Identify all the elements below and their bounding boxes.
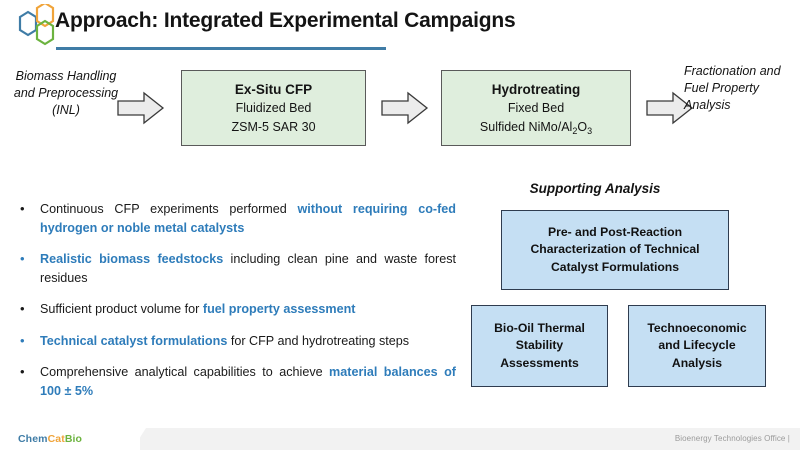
process-box-hydrotreating: Hydrotreating Fixed Bed Sulfided NiMo/Al… — [441, 70, 631, 146]
list-item: •Realistic biomass feedstocks including … — [8, 250, 456, 287]
footer-chemcatbio-logo: ChemCatBio — [18, 433, 82, 445]
catalyst-formula-mid: O — [577, 120, 587, 134]
bullet-text-plain-1: Sufficient product volume for — [40, 302, 203, 316]
footer-logo-bio: Bio — [65, 433, 82, 445]
footer-logo-cat: Cat — [48, 433, 65, 445]
list-item: •Technical catalyst formulations for CFP… — [8, 332, 456, 351]
list-item: •Sufficient product volume for fuel prop… — [8, 300, 456, 319]
supporting-box-technoeconomic: Technoeconomic and Lifecycle Analysis — [628, 305, 766, 387]
supporting-analysis-heading: Supporting Analysis — [470, 181, 720, 196]
bullet-text-accent-1: fuel property assessment — [203, 302, 356, 316]
flow-output-label: Fractionation and Fuel Property Analysis — [684, 63, 792, 114]
list-item: •Comprehensive analytical capabilities t… — [8, 363, 456, 400]
catalyst-formula-sub2: 3 — [587, 126, 592, 136]
approach-bullet-list: •Continuous CFP experiments performed wi… — [8, 200, 456, 413]
flow-arrow-1-icon — [116, 90, 166, 131]
catalyst-formula-pre: Sulfided NiMo/Al — [480, 120, 572, 134]
process-box-title: Hydrotreating — [442, 80, 630, 99]
supporting-box-bio-oil-stability: Bio-Oil Thermal Stability Assessments — [471, 305, 608, 387]
process-box-ex-situ-cfp: Ex-Situ CFP Fluidized Bed ZSM-5 SAR 30 — [181, 70, 366, 146]
bullet-text-accent-1: Technical catalyst formulations — [40, 334, 227, 348]
footer-office-text: Bioenergy Technologies Office | — [675, 434, 790, 443]
process-box-line-2: ZSM-5 SAR 30 — [182, 118, 365, 137]
process-box-line-2: Sulfided NiMo/Al2O3 — [442, 118, 630, 138]
process-box-title: Ex-Situ CFP — [182, 80, 365, 99]
flow-input-label: Biomass Handling and Preprocessing (INL) — [12, 68, 120, 119]
catalyst-formula-sub1: 2 — [572, 126, 577, 136]
bullet-marker-icon: • — [20, 332, 25, 351]
bullet-marker-icon: • — [20, 250, 25, 269]
flow-arrow-2-icon — [380, 90, 430, 131]
process-box-line-1: Fixed Bed — [442, 99, 630, 118]
bullet-marker-icon: • — [20, 363, 25, 382]
supporting-box-characterization: Pre- and Post-Reaction Characterization … — [501, 210, 729, 290]
bullet-text-plain-1: Continuous CFP experiments performed — [40, 202, 297, 216]
process-box-line-1: Fluidized Bed — [182, 99, 365, 118]
bullet-marker-icon: • — [20, 200, 25, 219]
list-item: •Continuous CFP experiments performed wi… — [8, 200, 456, 237]
page-title: Approach: Integrated Experimental Campai… — [55, 9, 516, 33]
bullet-text-plain-1: Comprehensive analytical capabilities to… — [40, 365, 329, 379]
footer-logo-chem: Chem — [18, 433, 48, 445]
bullet-text-plain-2: for CFP and hydrotreating steps — [227, 334, 409, 348]
slide-canvas: Approach: Integrated Experimental Campai… — [0, 0, 800, 450]
bullet-text-accent-1: Realistic biomass feedstocks — [40, 252, 223, 266]
title-underline-rule — [56, 47, 386, 50]
bullet-marker-icon: • — [20, 300, 25, 319]
footer-tab-edge — [132, 428, 146, 450]
